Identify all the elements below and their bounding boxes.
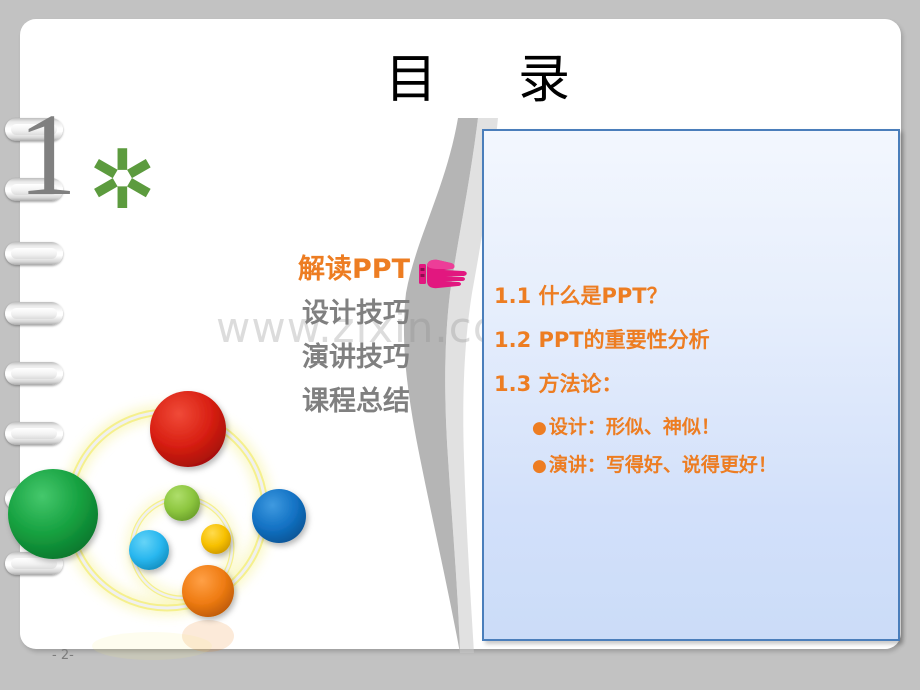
nav-item-jiedu-ppt[interactable]: 解读PPT — [150, 256, 410, 283]
blue-sphere — [252, 489, 306, 543]
agenda-content-box: 1.1 什么是PPT？ 1.2 PPT的重要性分析 1.3 方法论： ●设计：形… — [482, 129, 900, 641]
asterisk-icon: ✲ — [88, 140, 157, 222]
pointing-hand-right-icon — [418, 255, 470, 295]
spiral-ring — [5, 242, 63, 265]
page-number: - 2- — [52, 648, 74, 663]
slide-canvas: 1 ✲ 目 录 — [0, 0, 920, 690]
chapter-number: 1 — [18, 96, 75, 214]
cyan-sphere — [129, 530, 169, 570]
content-line-1-2: 1.2 PPT的重要性分析 — [494, 330, 890, 351]
agenda-nav-menu: 解读PPT 设计技巧 演讲技巧 课程总结 — [150, 256, 410, 432]
content-bullet-yanjiang-label: 演讲：写得好、说得更好！ — [549, 454, 777, 476]
content-bullet-yanjiang: ●演讲：写得好、说得更好！ — [494, 456, 890, 475]
agenda-content-list: 1.1 什么是PPT？ 1.2 PPT的重要性分析 1.3 方法论： ●设计：形… — [494, 286, 890, 494]
green-sphere — [8, 469, 98, 559]
yellow-sphere — [201, 524, 231, 554]
nav-item-kecheng-zongjie[interactable]: 课程总结 — [150, 388, 410, 415]
nav-item-sheji-jiqiao[interactable]: 设计技巧 — [150, 300, 410, 327]
bullet-icon: ● — [532, 456, 547, 476]
nav-item-yanjiang-jiqiao[interactable]: 演讲技巧 — [150, 344, 410, 371]
lightgreen-sphere — [164, 485, 200, 521]
content-line-1-1: 1.1 什么是PPT？ — [494, 286, 890, 307]
page-title: 目 录 — [385, 54, 586, 106]
orange-sphere — [182, 565, 234, 617]
bullet-icon: ● — [532, 418, 547, 438]
content-bullet-sheji-label: 设计：形似、神似！ — [549, 416, 720, 438]
content-bullet-sheji: ●设计：形似、神似！ — [494, 418, 890, 437]
spiral-ring — [5, 302, 63, 325]
content-line-1-3: 1.3 方法论： — [494, 374, 890, 395]
